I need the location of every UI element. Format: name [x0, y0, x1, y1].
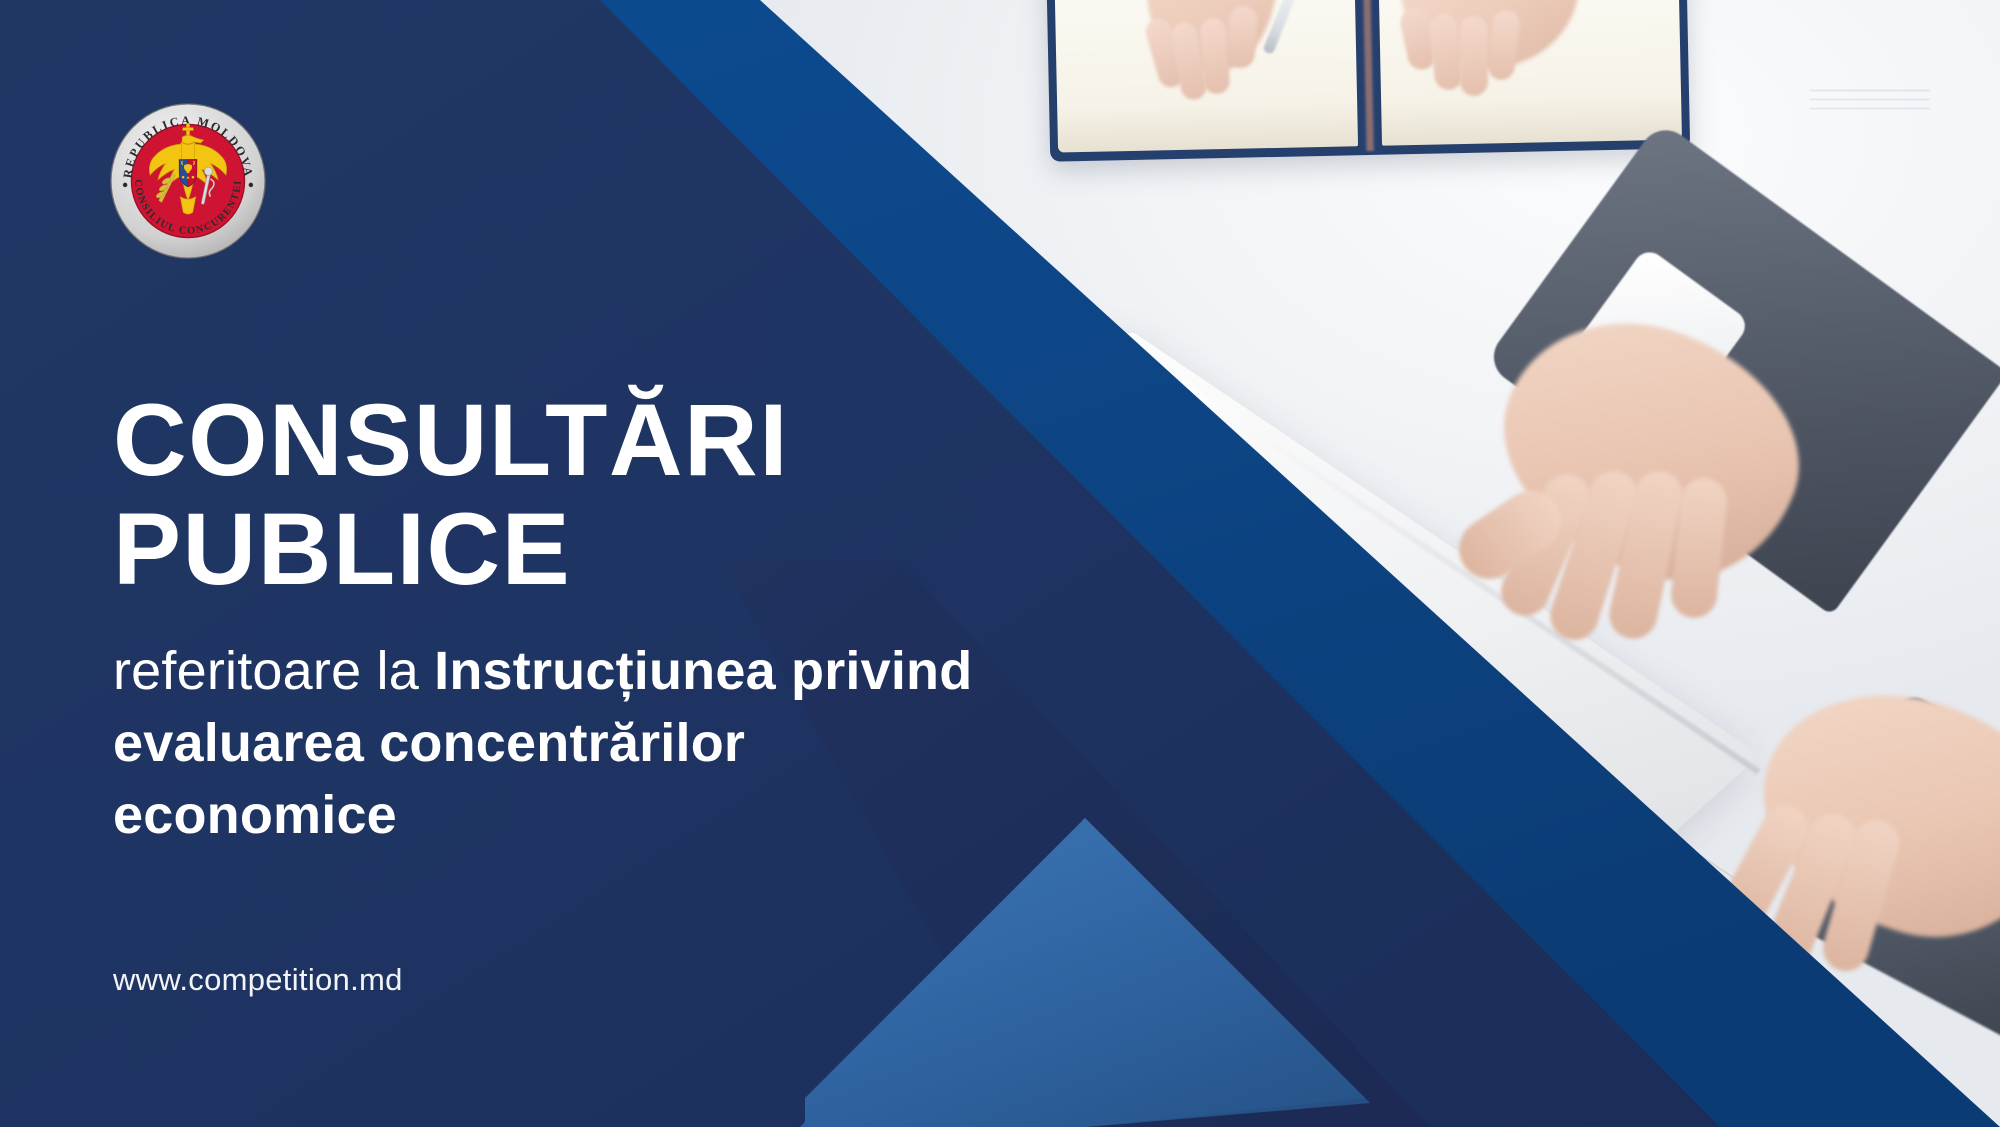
consultari-publice-banner: REPUBLICA MOLDOVA CONSILIUL CONCURENTEI — [0, 0, 2000, 1127]
subtitle-emphasis-1: Instrucțiunea — [434, 641, 776, 701]
page-subtitle: referitoare la Instrucțiunea privind eva… — [113, 636, 1033, 851]
coat-of-arms-icon: REPUBLICA MOLDOVA CONSILIUL CONCURENTEI — [110, 103, 266, 259]
subtitle-lead: referitoare la — [113, 641, 434, 701]
content-column: REPUBLICA MOLDOVA CONSILIUL CONCURENTEI — [0, 0, 1000, 1127]
website-url[interactable]: www.competition.md — [113, 962, 403, 998]
page-title-line-2: PUBLICE — [113, 495, 973, 604]
page-title: CONSULTĂRI PUBLICE — [113, 386, 973, 604]
page-title-line-1: CONSULTĂRI — [113, 383, 789, 497]
